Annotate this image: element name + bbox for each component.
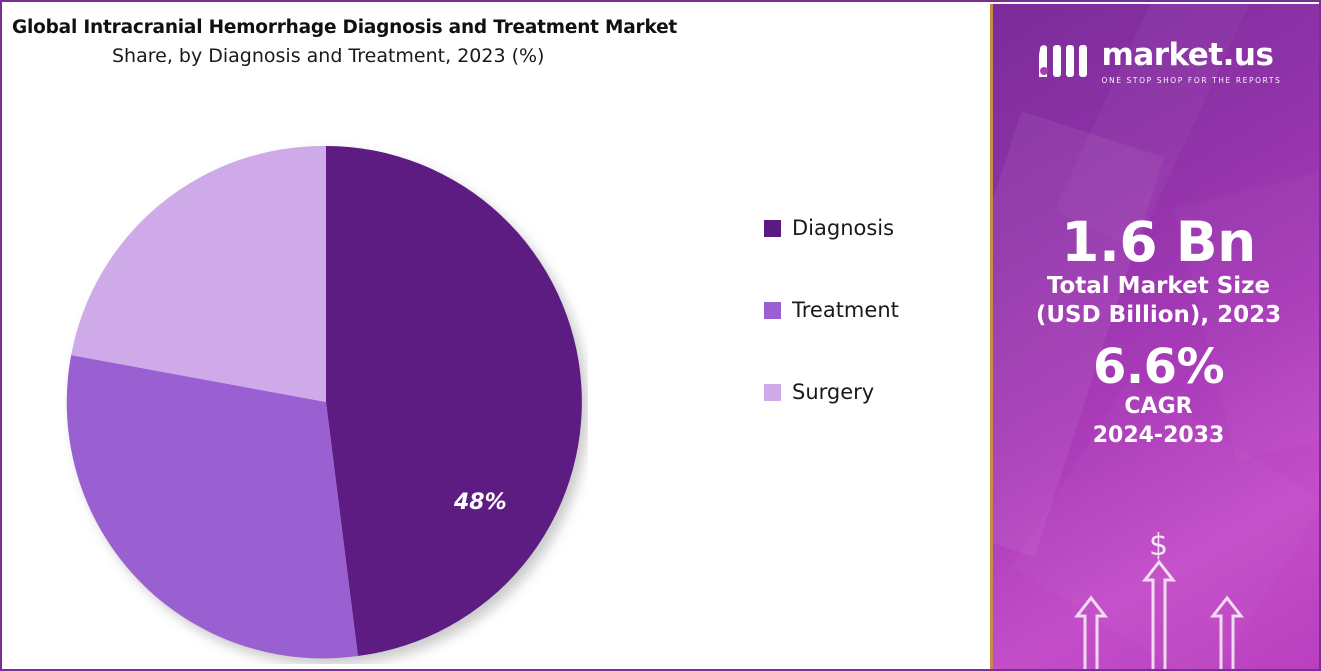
chart-panel: Global Intracranial Hemorrhage Diagnosis… [2, 2, 988, 669]
pie-slice-value-label: 48% [454, 490, 507, 515]
legend-swatch-icon [764, 220, 781, 237]
pie-slice-treatment [67, 355, 358, 658]
cagr-value: 6.6% [993, 341, 1321, 394]
brand-logo: market.us ONE STOP SHOP FOR THE REPORTS [993, 40, 1321, 85]
legend-item-label: Diagnosis [792, 216, 894, 240]
title-block: Global Intracranial Hemorrhage Diagnosis… [12, 16, 912, 68]
brand-name: market.us [1102, 40, 1274, 71]
cagr-caption-line1: CAGR [993, 393, 1321, 422]
legend-swatch-icon [764, 302, 781, 319]
page-title: Global Intracranial Hemorrhage Diagnosis… [12, 16, 912, 39]
pie-slice-diagnosis [326, 146, 582, 656]
brand-text: market.us ONE STOP SHOP FOR THE REPORTS [1102, 40, 1282, 85]
legend-item-label: Treatment [792, 298, 899, 322]
legend: Diagnosis Treatment Surgery [764, 187, 974, 433]
infographic-page: Global Intracranial Hemorrhage Diagnosis… [0, 0, 1321, 671]
chart-subtitle: Share, by Diagnosis and Treatment, 2023 … [112, 45, 912, 68]
legend-swatch-icon [764, 384, 781, 401]
stats-block: 1.6 Bn Total Market Size (USD Billion), … [993, 214, 1321, 451]
pie-chart-svg [64, 140, 588, 664]
brand-tagline: ONE STOP SHOP FOR THE REPORTS [1102, 76, 1282, 85]
pie-chart: 48% [64, 140, 588, 664]
legend-item-label: Surgery [792, 380, 874, 404]
market-size-caption-line2: (USD Billion), 2023 [993, 301, 1321, 330]
market-size-caption-line1: Total Market Size [993, 272, 1321, 301]
legend-item-surgery[interactable]: Surgery [764, 351, 974, 433]
cagr-caption-line2: 2024-2033 [993, 422, 1321, 451]
legend-item-treatment[interactable]: Treatment [764, 269, 974, 351]
market-size-value: 1.6 Bn [993, 214, 1321, 272]
market-us-logo-icon [1036, 41, 1090, 85]
stats-sidebar: market.us ONE STOP SHOP FOR THE REPORTS … [990, 4, 1321, 671]
dollar-sign-icon: $ [993, 528, 1321, 563]
growth-arrows-icon [993, 560, 1321, 671]
legend-item-diagnosis[interactable]: Diagnosis [764, 187, 974, 269]
